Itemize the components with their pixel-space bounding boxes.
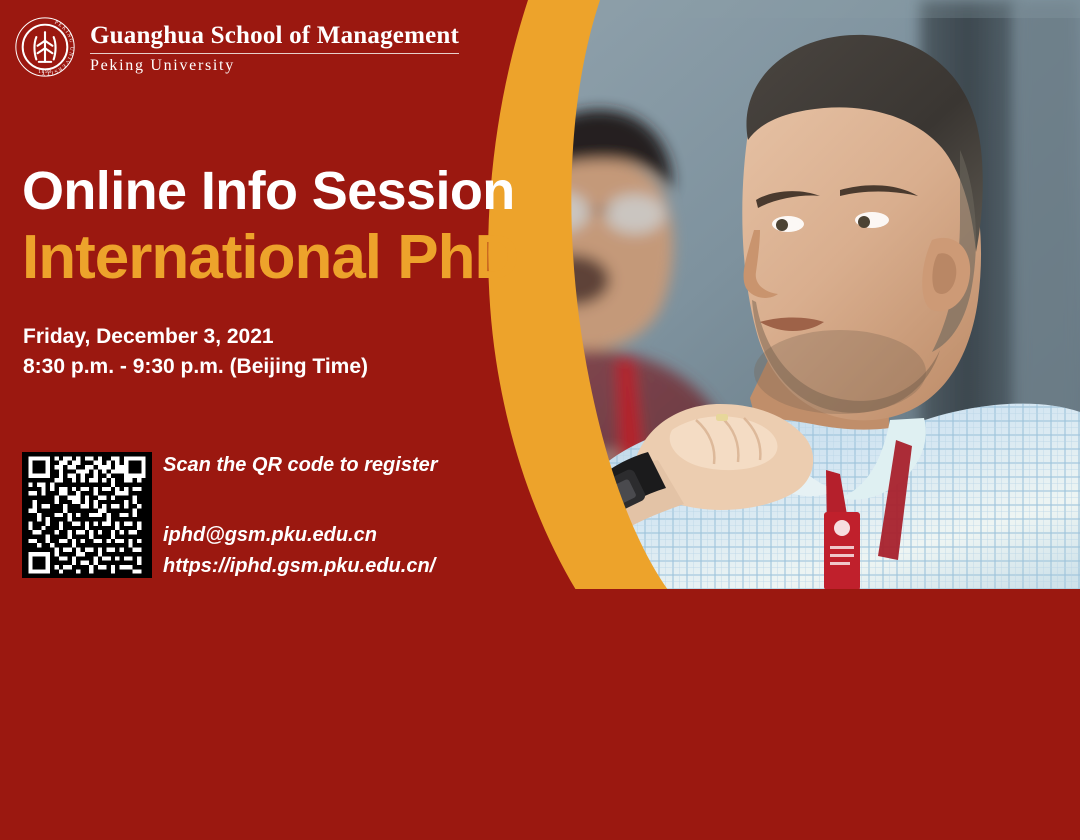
school-name: Guanghua School of Management	[90, 22, 459, 49]
poster-canvas: PEKING UNIVERSITY 1898 Guanghua School o…	[0, 0, 1080, 840]
event-time: 8:30 p.m. - 9:30 p.m. (Beijing Time)	[23, 352, 368, 382]
university-name: Peking University	[90, 57, 459, 75]
registration-qr-code[interactable]	[22, 452, 152, 578]
contact-email[interactable]: iphd@gsm.pku.edu.cn	[163, 520, 563, 551]
bottom-red-band	[0, 589, 1080, 840]
wordmark: Guanghua School of Management Peking Uni…	[90, 20, 459, 75]
contact-website[interactable]: https://iphd.gsm.pku.edu.cn/	[163, 551, 563, 582]
headline-block: Online Info Session International PhD	[22, 162, 582, 293]
svg-text:1898: 1898	[38, 69, 52, 75]
event-schedule: Friday, December 3, 2021 8:30 p.m. - 9:3…	[23, 322, 368, 383]
registration-info: Scan the QR code to register iphd@gsm.pk…	[163, 452, 563, 582]
scan-prompt: Scan the QR code to register	[163, 452, 563, 478]
headline-secondary: International PhD	[22, 224, 582, 292]
qr-code-icon[interactable]	[22, 452, 152, 578]
wordmark-rule	[90, 53, 459, 54]
brand-lockup: PEKING UNIVERSITY 1898 Guanghua School o…	[14, 16, 459, 78]
contact-links: iphd@gsm.pku.edu.cn https://iphd.gsm.pku…	[163, 520, 563, 582]
pku-seal-icon: PEKING UNIVERSITY 1898	[14, 16, 76, 78]
headline-primary: Online Info Session	[22, 162, 582, 220]
event-date: Friday, December 3, 2021	[23, 322, 368, 352]
